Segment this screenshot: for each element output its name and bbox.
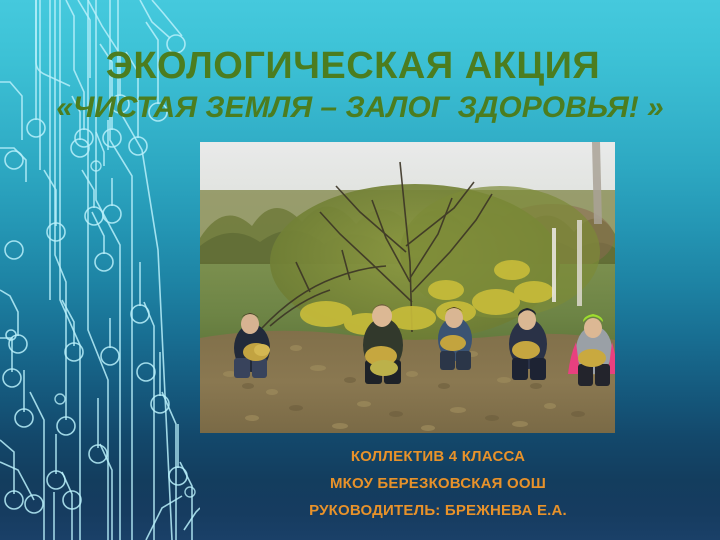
credit-line-school: МКОУ БЕРЕЗКОВСКАЯ ООШ [178, 470, 698, 497]
presentation-slide: ЭКОЛОГИЧЕСКАЯ АКЦИЯ «ЧИСТАЯ ЗЕМЛЯ – ЗАЛО… [0, 0, 720, 540]
page-title: ЭКОЛОГИЧЕСКАЯ АКЦИЯ [0, 44, 720, 88]
event-photo [200, 142, 615, 433]
credit-line-class: КОЛЛЕКТИВ 4 КЛАССА [178, 443, 698, 470]
page-subtitle: «ЧИСТАЯ ЗЕМЛЯ – ЗАЛОГ ЗДОРОВЬЯ! » [0, 88, 720, 128]
credit-line-supervisor: РУКОВОДИТЕЛЬ: БРЕЖНЕВА Е.А. [178, 497, 698, 524]
credits-block: КОЛЛЕКТИВ 4 КЛАССА МКОУ БЕРЕЗКОВСКАЯ ООШ… [178, 443, 698, 524]
headline-block: ЭКОЛОГИЧЕСКАЯ АКЦИЯ «ЧИСТАЯ ЗЕМЛЯ – ЗАЛО… [0, 44, 720, 128]
photo-content [200, 142, 615, 433]
